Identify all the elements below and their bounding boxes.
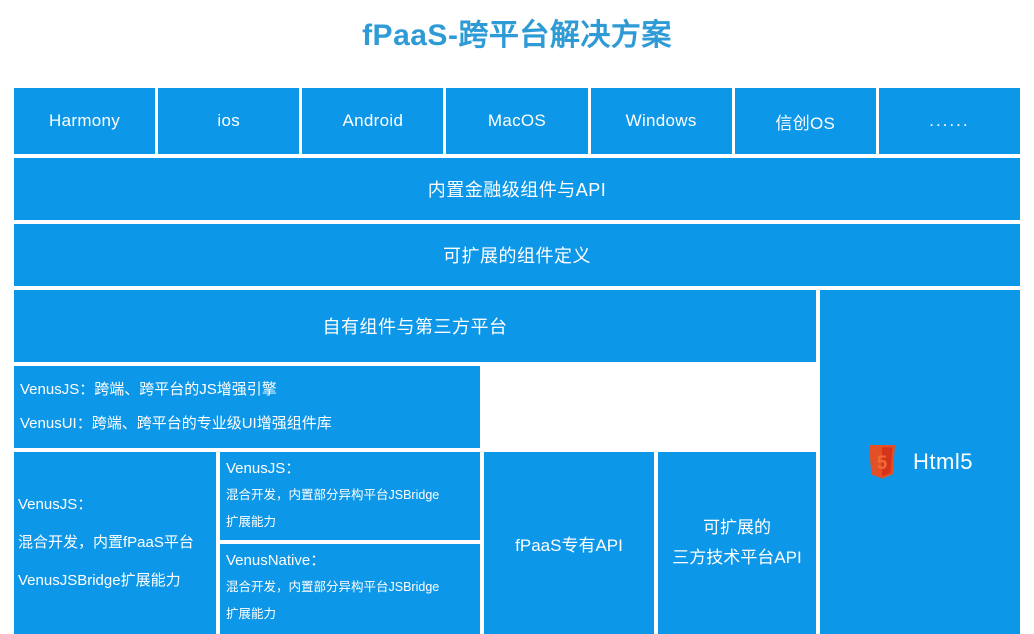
platform-cell-xinchuang-os[interactable]: 信创OS: [735, 88, 876, 154]
platform-cell-harmony[interactable]: Harmony: [14, 88, 155, 154]
venusnative-card: VenusNative： 混合开发，内置部分异构平台JSBridge 扩展能力: [220, 544, 480, 634]
thirdparty-api-line2: 三方技术平台API: [672, 543, 801, 573]
venusnative-card-head: VenusNative：: [226, 548, 474, 574]
diagram-page: fPaaS-跨平台解决方案 Harmony ios Android MacOS …: [0, 0, 1034, 634]
venusnative-card-line1: 混合开发，内置部分异构平台JSBridge: [226, 574, 474, 601]
engines-region: VenusJS：跨端、跨平台的JS增强引擎 VenusUI：跨端、跨平台的专业级…: [14, 366, 816, 634]
platform-label: ......: [929, 111, 969, 131]
band-label: 自有组件与第三方平台: [323, 313, 508, 339]
platform-label: Harmony: [49, 111, 120, 131]
platform-row: Harmony ios Android MacOS Windows 信创OS .…: [14, 88, 1020, 154]
thirdparty-platform-api-box: 可扩展的 三方技术平台API: [658, 452, 816, 634]
fpaas-proprietary-api-box: fPaaS专有API: [484, 452, 654, 634]
venusjs-card-head: VenusJS：: [226, 456, 474, 482]
venusjs-card-line2: 扩展能力: [226, 509, 474, 536]
html5-panel: 5 Html5: [820, 290, 1020, 634]
platform-label: Windows: [626, 111, 697, 131]
native-cards-column: VenusJS： 混合开发，内置部分异构平台JSBridge 扩展能力 Venu…: [220, 452, 480, 634]
band-label: 内置金融级组件与API: [428, 176, 607, 202]
fpaas-api-label: fPaaS专有API: [515, 531, 623, 556]
html5-label: Html5: [913, 449, 973, 475]
venusui-description-line: VenusUI：跨端、跨平台的专业级UI增强组件库: [20, 407, 474, 441]
thirdparty-api-line1: 可扩展的: [703, 513, 771, 543]
venusjs-hybrid-head: VenusJS：: [18, 486, 212, 524]
left-stack: 自有组件与第三方平台 VenusJS：跨端、跨平台的JS增强引擎 VenusUI…: [14, 290, 816, 634]
band-extensible-definition: 可扩展的组件定义: [14, 224, 1020, 286]
venusjs-native-card: VenusJS： 混合开发，内置部分异构平台JSBridge 扩展能力: [220, 452, 480, 540]
platform-label: ios: [217, 111, 240, 131]
platform-label: 信创OS: [775, 109, 835, 134]
platform-label: Android: [343, 111, 404, 131]
svg-text:5: 5: [877, 453, 888, 474]
page-title: fPaaS-跨平台解决方案: [0, 16, 1034, 56]
platform-label: MacOS: [488, 111, 546, 131]
venusjs-card-line1: 混合开发，内置部分异构平台JSBridge: [226, 482, 474, 509]
architecture-diagram: Harmony ios Android MacOS Windows 信创OS .…: [14, 88, 1020, 634]
platform-cell-macos[interactable]: MacOS: [446, 88, 587, 154]
venus-description-box: VenusJS：跨端、跨平台的JS增强引擎 VenusUI：跨端、跨平台的专业级…: [14, 366, 480, 448]
band-own-and-thirdparty: 自有组件与第三方平台: [14, 290, 816, 362]
lower-region: 自有组件与第三方平台 VenusJS：跨端、跨平台的JS增强引擎 VenusUI…: [14, 290, 1020, 634]
platform-cell-android[interactable]: Android: [302, 88, 443, 154]
venusnative-card-line2: 扩展能力: [226, 601, 474, 628]
venusjs-description-line: VenusJS：跨端、跨平台的JS增强引擎: [20, 373, 474, 407]
platform-cell-ios[interactable]: ios: [158, 88, 299, 154]
html5-shield-icon: 5: [867, 445, 897, 479]
venusjs-hybrid-box: VenusJS： 混合开发，内置fPaaS平台 VenusJSBridge扩展能…: [14, 452, 216, 634]
platform-cell-windows[interactable]: Windows: [591, 88, 732, 154]
band-components-api: 内置金融级组件与API: [14, 158, 1020, 220]
band-label: 可扩展的组件定义: [443, 242, 591, 268]
venusjs-hybrid-line1: 混合开发，内置fPaaS平台: [18, 524, 212, 562]
platform-cell-more[interactable]: ......: [879, 88, 1020, 154]
venusjs-hybrid-line2: VenusJSBridge扩展能力: [18, 562, 212, 600]
